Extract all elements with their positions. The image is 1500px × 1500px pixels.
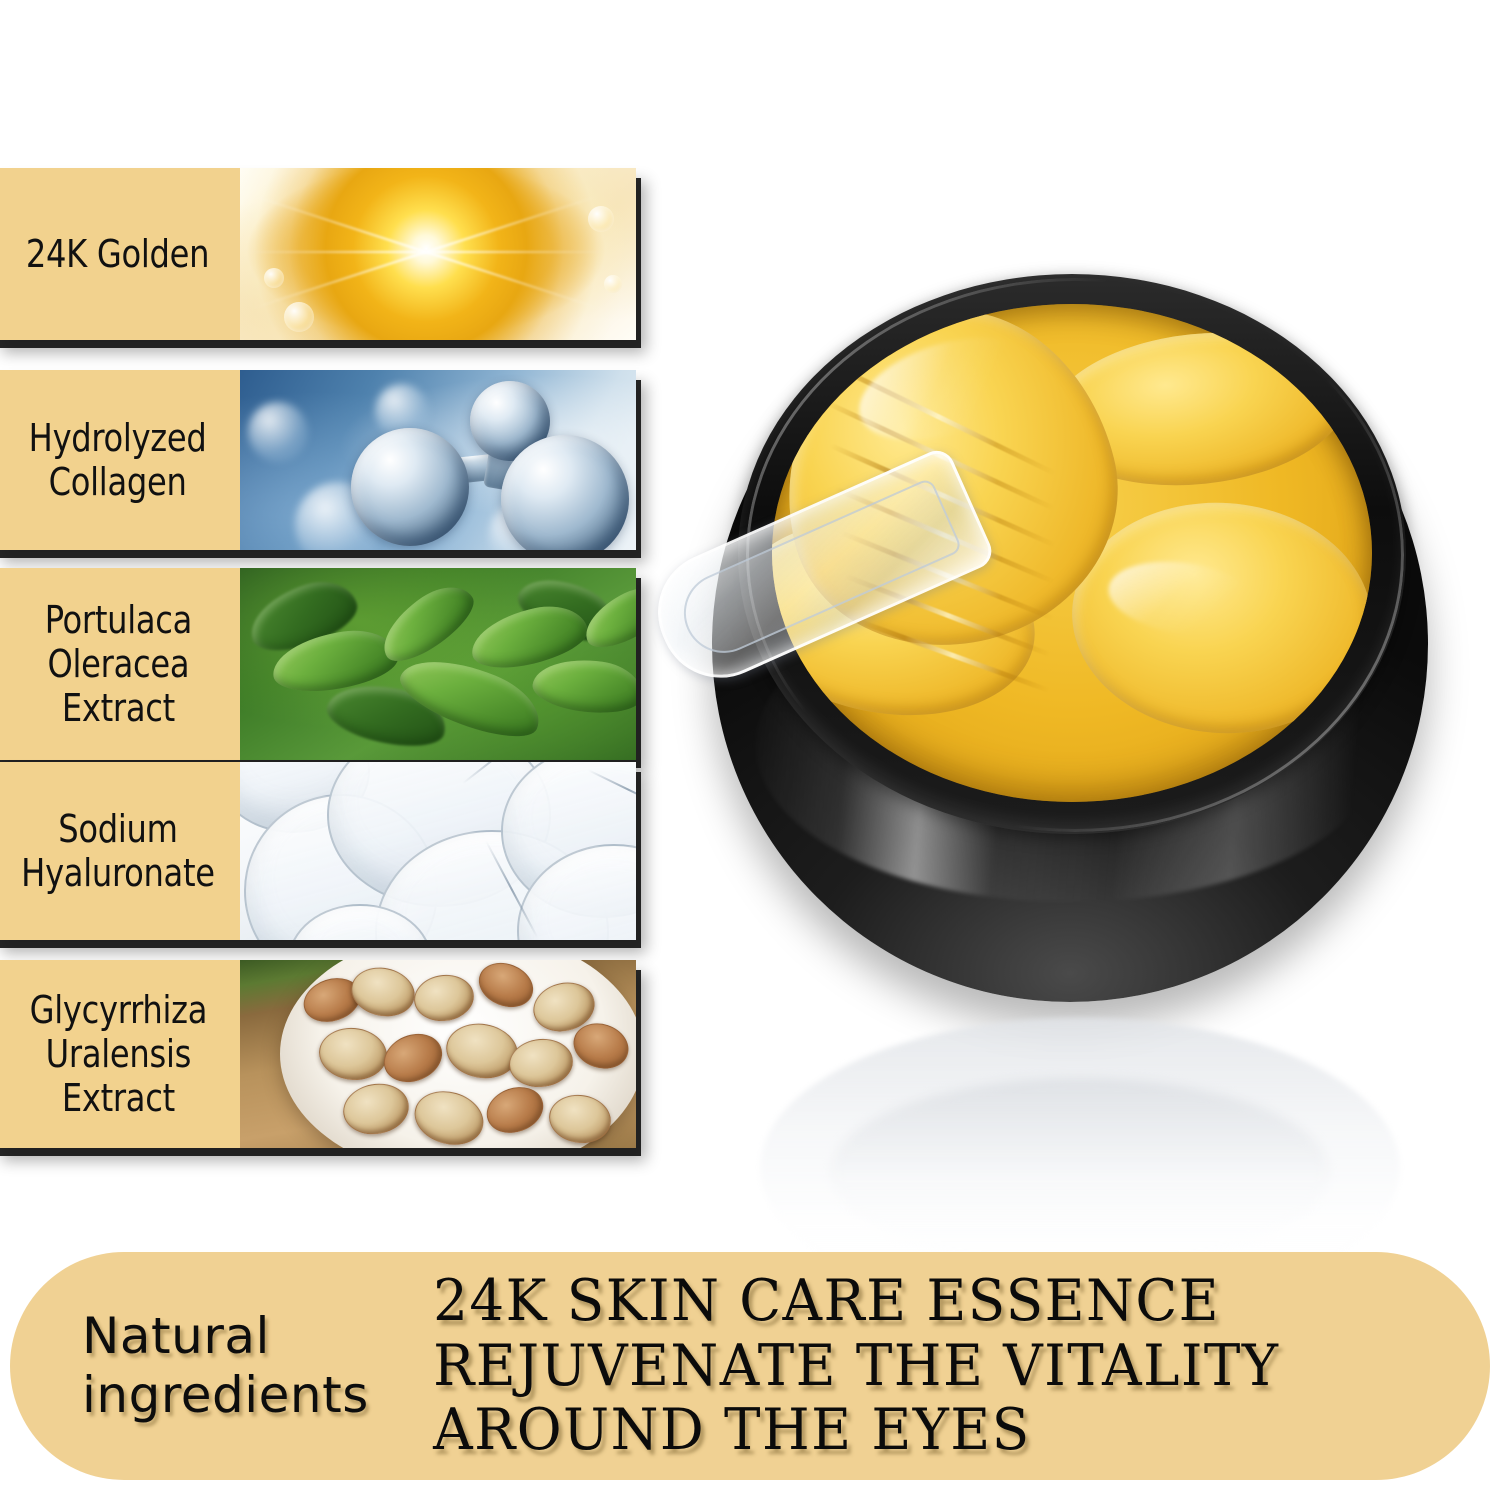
ingredient-panel-stack: 24K Golden Hydrolyzed Collagen xyxy=(0,0,660,1180)
light-ray xyxy=(244,251,426,253)
ingredient-label-text: Portulaca Oleracea Extract xyxy=(44,598,191,730)
ingredient-panel-24k-golden[interactable]: 24K Golden xyxy=(0,168,636,340)
purslane-plant-photo xyxy=(240,568,636,760)
ingredient-label-line: Glycyrrhiza xyxy=(29,988,206,1032)
ingredient-label-text: Sodium Hyaluronate xyxy=(21,807,215,895)
banner-tagline-line: ingredients xyxy=(82,1366,369,1424)
hyaluronate-bubbles-photo xyxy=(240,762,636,940)
ingredient-label-line: Portulaca xyxy=(44,598,191,642)
ingredient-label-line: Hydrolyzed xyxy=(29,416,207,460)
banner-headline-line: REJUVENATE THE VITALITY xyxy=(433,1334,1408,1399)
bottom-banner: Natural ingredients 24K SKIN CARE ESSENC… xyxy=(10,1252,1490,1480)
ingredient-label-line: Extract xyxy=(61,686,174,730)
ingredient-label-cell: Hydrolyzed Collagen xyxy=(0,370,240,550)
banner-headline-line: AROUND THE EYES xyxy=(433,1398,1408,1463)
oil-bubble xyxy=(284,302,314,332)
banner-headline: 24K SKIN CARE ESSENCE REJUVENATE THE VIT… xyxy=(412,1269,1408,1464)
background-droplet xyxy=(248,402,308,462)
ingredient-panel-sodium-hyaluronate[interactable]: Sodium Hyaluronate xyxy=(0,762,636,940)
ingredient-label-line: Hyaluronate xyxy=(21,851,215,895)
jar-reflection-inner xyxy=(830,1078,1330,1268)
ingredient-panel-hydrolyzed-collagen[interactable]: Hydrolyzed Collagen xyxy=(0,370,636,550)
light-ray xyxy=(426,194,600,252)
oil-bubble xyxy=(588,206,614,232)
banner-tagline: Natural ingredients xyxy=(82,1307,412,1425)
ingredient-label-cell: 24K Golden xyxy=(0,168,240,340)
ingredient-label-line: Sodium xyxy=(58,807,177,851)
ingredient-label-text: 24K Golden xyxy=(26,232,209,276)
leaf xyxy=(370,574,483,672)
banner-tagline-line: Natural xyxy=(82,1307,270,1365)
light-ray xyxy=(426,251,600,309)
ingredient-label-cell: Glycyrrhiza Uralensis Extract xyxy=(0,960,240,1148)
ingredient-label-cell: Sodium Hyaluronate xyxy=(0,762,240,940)
molecule-sphere xyxy=(501,435,629,550)
ingredient-label-text: Hydrolyzed Collagen xyxy=(29,416,207,504)
molecule-sphere xyxy=(351,428,469,546)
ingredient-label-text: Glycyrrhiza Uralensis Extract xyxy=(29,988,206,1120)
collagen-molecule-photo xyxy=(240,370,636,550)
light-ray xyxy=(253,194,427,252)
gold-eye-mask-jar-photo[interactable] xyxy=(700,268,1460,1028)
ingredient-panel-glycyrrhiza-uralensis[interactable]: Glycyrrhiza Uralensis Extract xyxy=(0,960,636,1148)
oil-bubble xyxy=(604,275,622,293)
banner-headline-line: 24K SKIN CARE ESSENCE xyxy=(433,1269,1408,1334)
golden-serum-drop-photo xyxy=(240,168,636,340)
ingredient-panel-portulaca-oleracea[interactable]: Portulaca Oleracea Extract xyxy=(0,568,636,760)
ingredient-label-line: Collagen xyxy=(49,460,187,504)
light-ray xyxy=(426,251,608,253)
oil-bubble xyxy=(264,268,284,288)
licorice-root-slices-photo xyxy=(240,960,636,1148)
ingredient-label-cell: Portulaca Oleracea Extract xyxy=(0,568,240,760)
ingredient-label-line: Uralensis xyxy=(45,1032,190,1076)
ingredient-label-line: Extract xyxy=(61,1076,174,1120)
ingredient-label-line: Oleracea xyxy=(47,642,189,686)
leaf xyxy=(530,653,636,720)
